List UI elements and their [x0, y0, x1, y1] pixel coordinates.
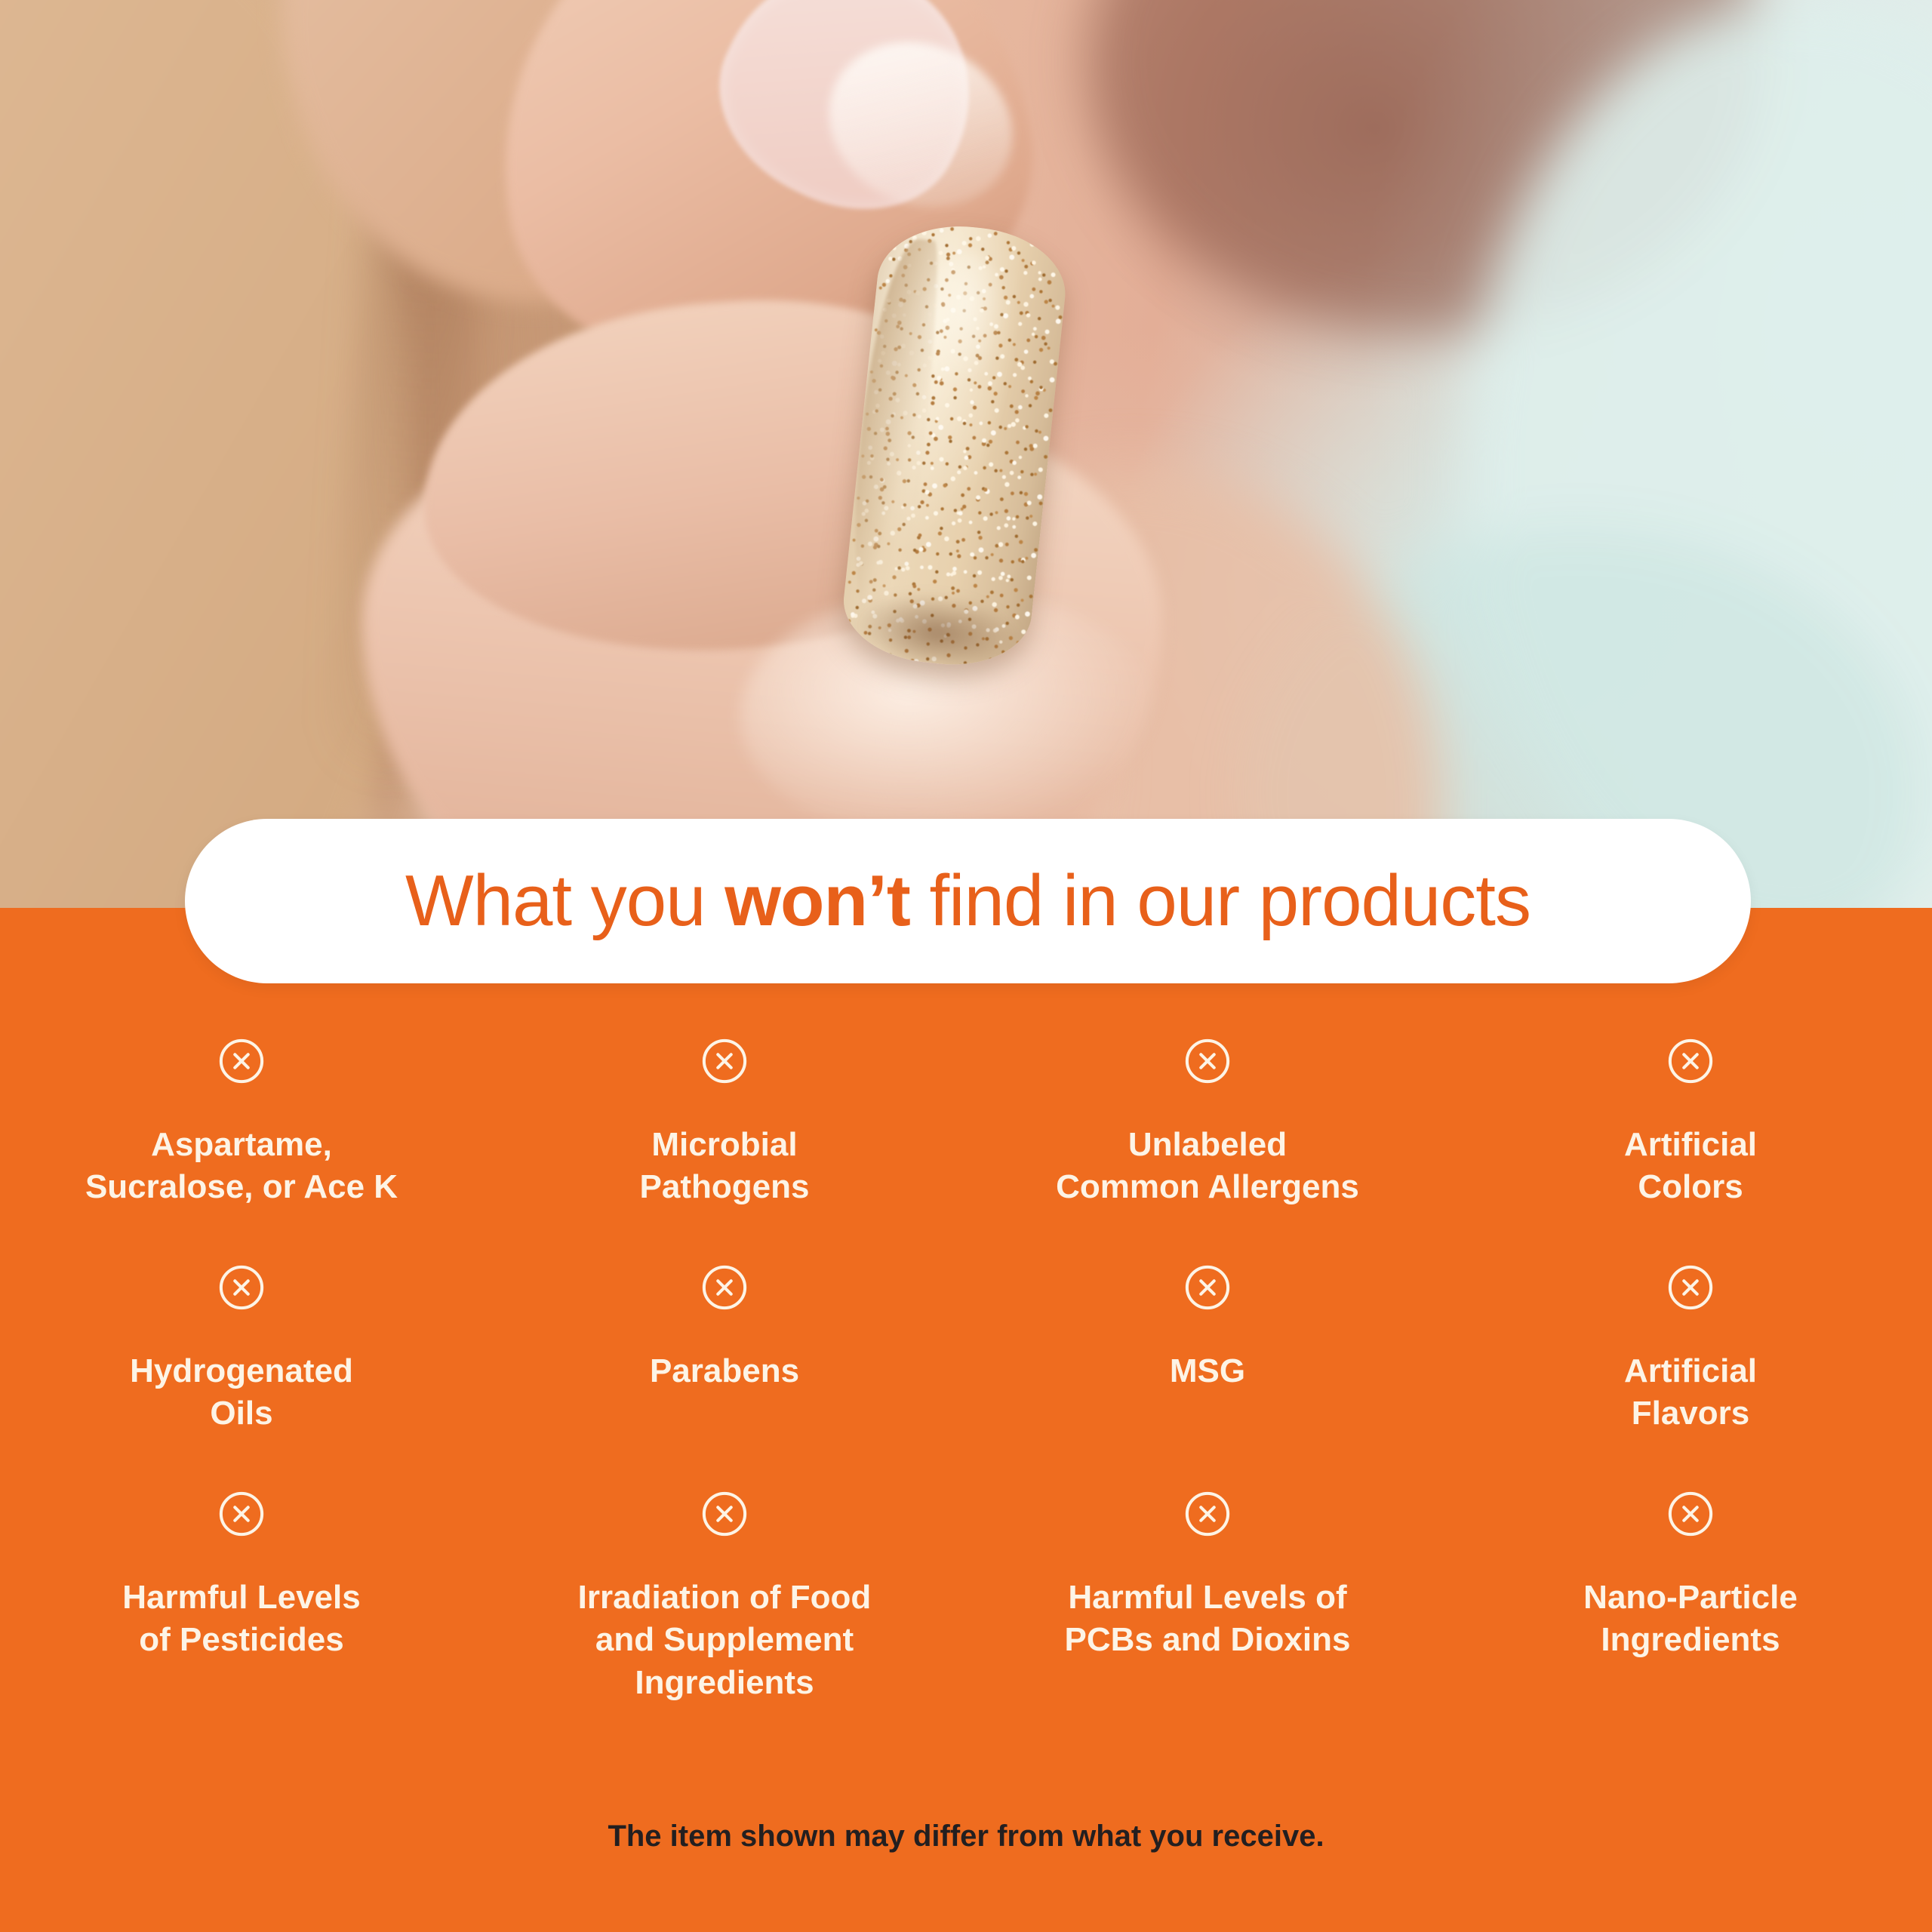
exclusion-label: MicrobialPathogens [640, 1124, 810, 1209]
title-banner: What you won’t find in our products [185, 819, 1751, 983]
circle-x-icon [701, 1491, 748, 1537]
exclusion-label: Nano-ParticleIngredients [1583, 1577, 1798, 1662]
hero-product-photo [0, 0, 1932, 909]
exclusion-label: ArtificialFlavors [1624, 1350, 1757, 1435]
exclusion-item: Aspartame,Sucralose, or Ace K [0, 1038, 483, 1209]
exclusion-item: Nano-ParticleIngredients [1449, 1491, 1932, 1704]
exclusion-label: MSG [1170, 1350, 1245, 1392]
exclusions-row-2: HydrogenatedOils Parabens MSG [0, 1264, 1932, 1435]
exclusions-row-3: Harmful Levelsof Pesticides Irradiation … [0, 1491, 1932, 1704]
exclusion-item: HydrogenatedOils [0, 1264, 483, 1435]
exclusion-item: Parabens [483, 1264, 966, 1435]
exclusion-item: ArtificialFlavors [1449, 1264, 1932, 1435]
exclusion-item: UnlabeledCommon Allergens [966, 1038, 1449, 1209]
title-emphasis: won’t [724, 860, 910, 941]
exclusion-label: HydrogenatedOils [130, 1350, 353, 1435]
circle-x-icon [1184, 1264, 1231, 1311]
exclusion-label: Irradiation of Foodand SupplementIngredi… [578, 1577, 872, 1704]
disclaimer-text: The item shown may differ from what you … [0, 1820, 1932, 1854]
title-part-1: What you [405, 860, 724, 941]
circle-x-icon [701, 1264, 748, 1311]
circle-x-icon [218, 1038, 265, 1084]
exclusion-item: Harmful Levels ofPCBs and Dioxins [966, 1491, 1449, 1704]
exclusion-label: Harmful Levels ofPCBs and Dioxins [1065, 1577, 1351, 1662]
exclusion-label: Harmful Levelsof Pesticides [122, 1577, 360, 1662]
exclusions-panel: Aspartame,Sucralose, or Ace K MicrobialP… [0, 908, 1932, 1932]
exclusions-row-1: Aspartame,Sucralose, or Ace K MicrobialP… [0, 1038, 1932, 1209]
page-title: What you won’t find in our products [405, 865, 1531, 937]
hand-holding-tablet [0, 0, 1932, 909]
circle-x-icon [1667, 1038, 1714, 1084]
circle-x-icon [1184, 1038, 1231, 1084]
exclusion-label: ArtificialColors [1624, 1124, 1757, 1209]
product-infographic: Aspartame,Sucralose, or Ace K MicrobialP… [0, 0, 1932, 1932]
title-part-2: find in our products [910, 860, 1531, 941]
exclusion-label: Parabens [650, 1350, 799, 1392]
circle-x-icon [1184, 1491, 1231, 1537]
exclusion-item: ArtificialColors [1449, 1038, 1932, 1209]
exclusion-label: Aspartame,Sucralose, or Ace K [85, 1124, 398, 1209]
circle-x-icon [1667, 1491, 1714, 1537]
circle-x-icon [218, 1264, 265, 1311]
exclusion-item: Irradiation of Foodand SupplementIngredi… [483, 1491, 966, 1704]
circle-x-icon [218, 1491, 265, 1537]
exclusion-item: Harmful Levelsof Pesticides [0, 1491, 483, 1704]
exclusion-item: MSG [966, 1264, 1449, 1435]
exclusion-item: MicrobialPathogens [483, 1038, 966, 1209]
circle-x-icon [701, 1038, 748, 1084]
circle-x-icon [1667, 1264, 1714, 1311]
exclusion-label: UnlabeledCommon Allergens [1056, 1124, 1359, 1209]
